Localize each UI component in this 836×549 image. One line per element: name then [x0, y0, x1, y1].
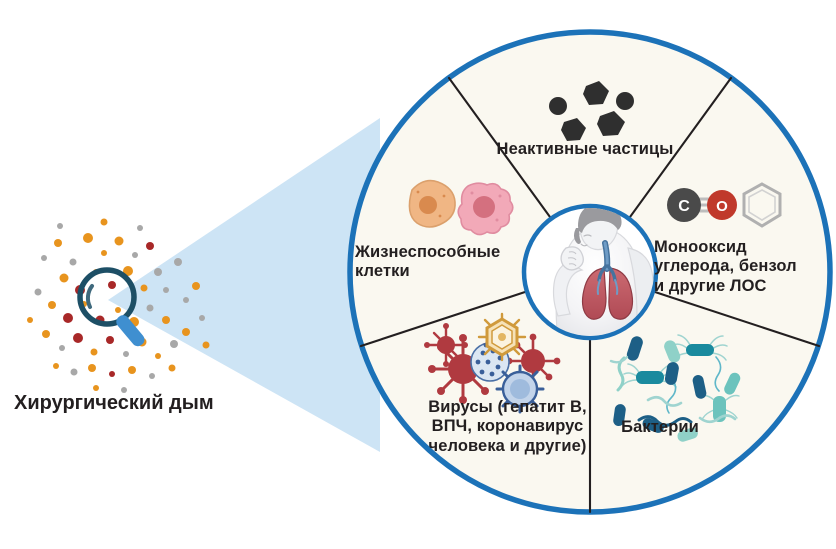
segment-label-bacteria: Бактерии: [595, 418, 725, 437]
segment-label-inactive-particles: Неактивные частицы: [480, 140, 690, 159]
center-illustration: [524, 204, 656, 340]
surgical-smoke-caption: Хирургический дым: [14, 392, 274, 415]
oxygen-atom-label: O: [716, 198, 728, 215]
diagram-canvas: C O: [0, 0, 836, 549]
segment-label-carbon-monoxide: Монооксид углерода, бензол и другие ЛОС: [654, 238, 829, 296]
carbon-atom-label: C: [678, 198, 690, 215]
segment-label-viable-cells: Жизнеспособные клетки: [355, 243, 515, 282]
segment-label-viruses: Вирусы (гепатит B, ВПЧ, коронавирус чело…: [415, 398, 600, 456]
